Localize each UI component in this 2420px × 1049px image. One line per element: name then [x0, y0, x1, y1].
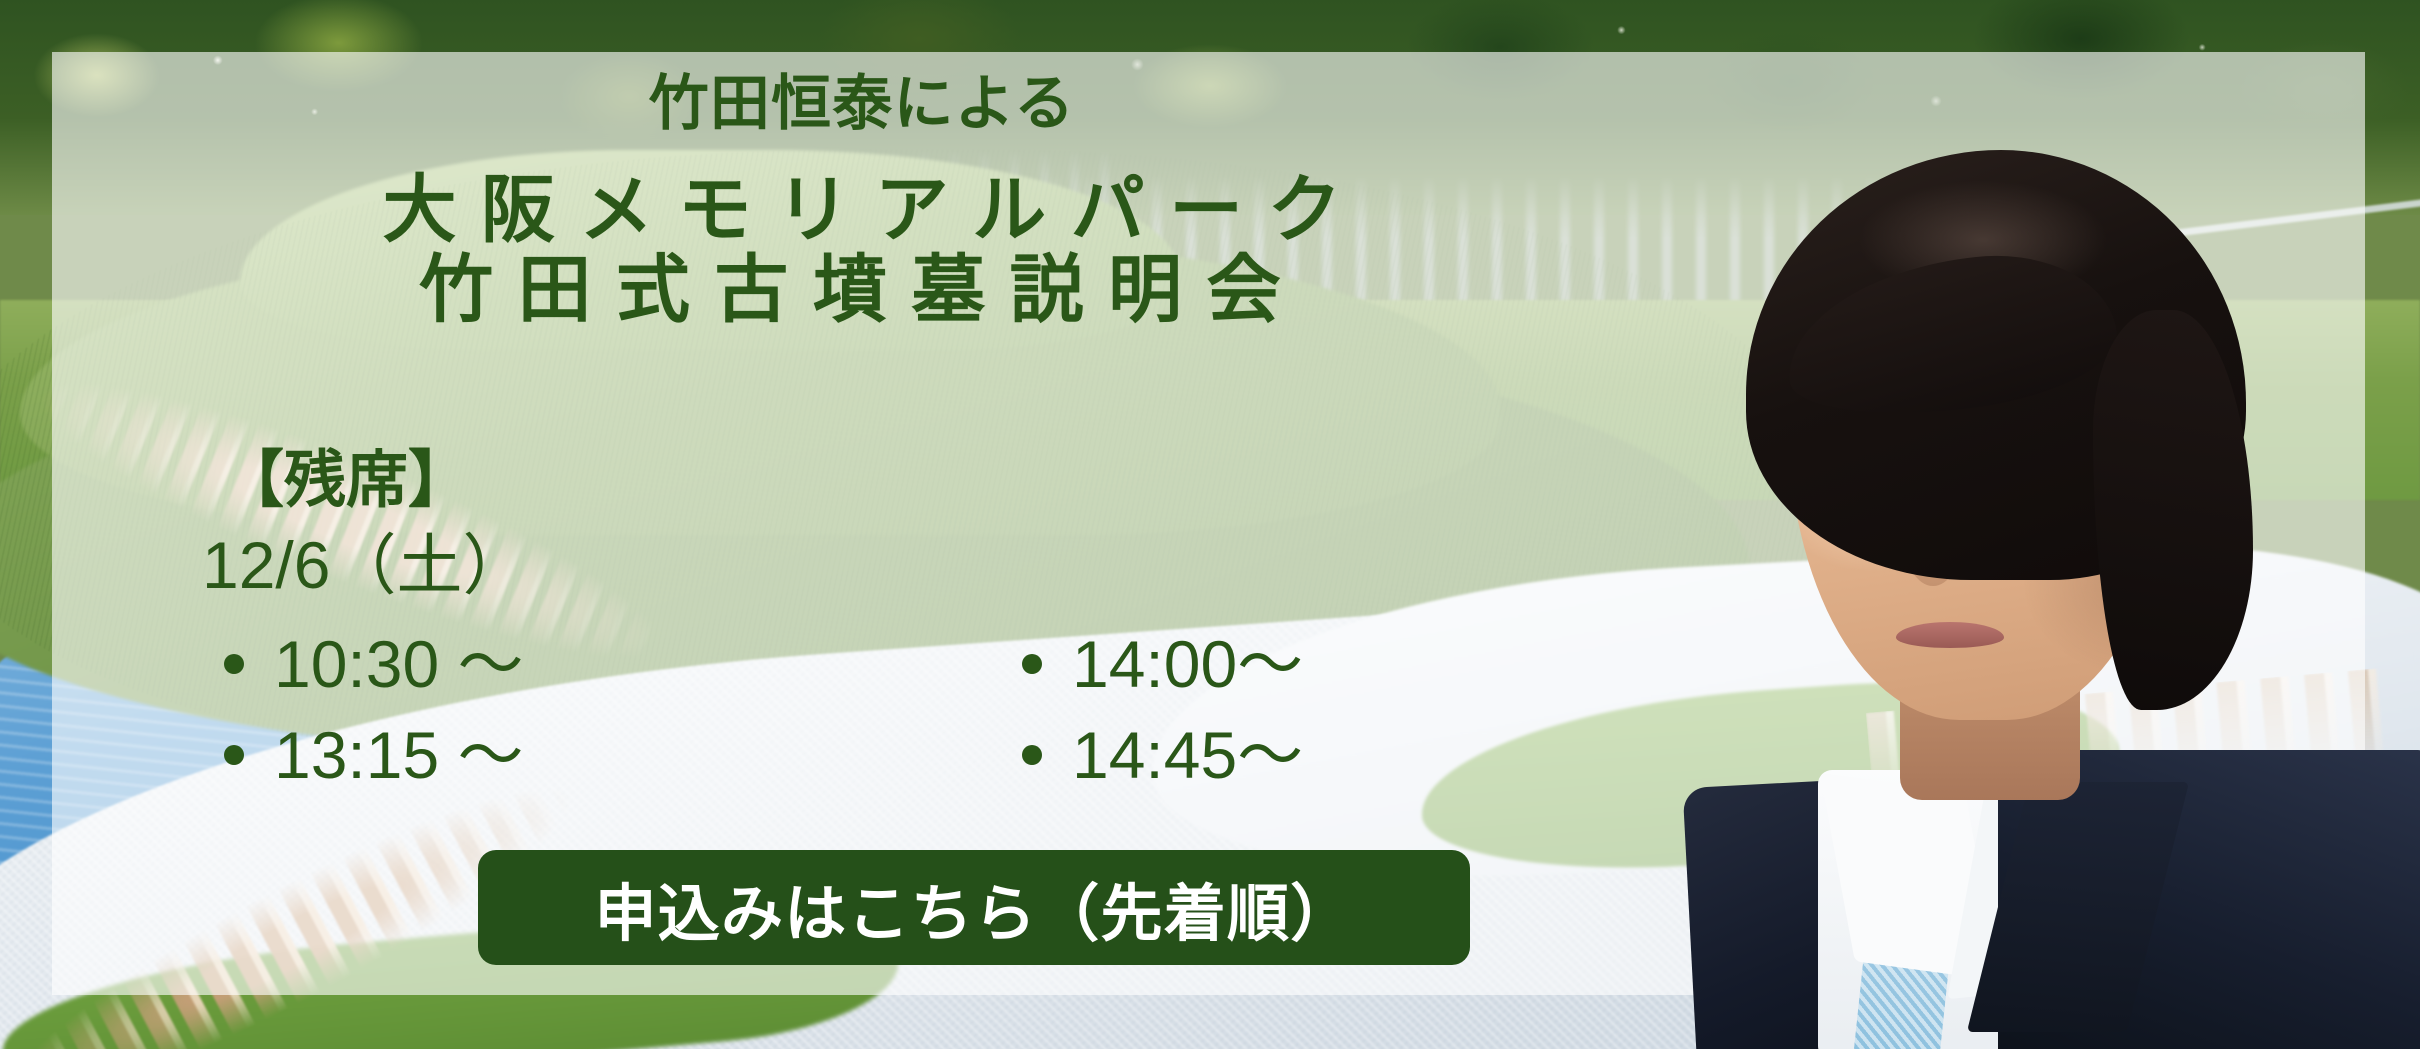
time-slot-label: 10:30 〜: [274, 624, 524, 705]
bullet-icon: [1022, 745, 1042, 765]
time-slot: 14:00〜: [802, 624, 1392, 705]
event-date: 12/6（土）: [202, 532, 528, 598]
time-slot-label: 13:15 〜: [274, 715, 524, 796]
time-slot: 13:15 〜: [212, 715, 802, 796]
time-slot-label: 14:45〜: [1072, 715, 1303, 796]
bullet-icon: [1022, 654, 1042, 674]
banner-copy: 竹田恒泰による 大阪メモリアルパーク 竹田式古墳墓説明会 【残席】 12/6（土…: [52, 52, 1752, 995]
bullet-icon: [224, 745, 244, 765]
apply-button[interactable]: 申込みはこちら（先着順）: [478, 850, 1470, 965]
banner-subtitle: 竹田恒泰による: [52, 74, 1672, 134]
promo-banner: 竹田恒泰による 大阪メモリアルパーク 竹田式古墳墓説明会 【残席】 12/6（土…: [0, 0, 2420, 1049]
remaining-seats-label: 【残席】: [222, 450, 470, 512]
time-slot-label: 14:00〜: [1072, 624, 1303, 705]
time-slot: 10:30 〜: [212, 624, 802, 705]
time-slot-list: 10:30 〜 14:00〜 13:15 〜 14:45〜: [212, 624, 1392, 795]
bullet-icon: [224, 654, 244, 674]
mouth: [1896, 622, 2004, 648]
banner-title: 大阪メモリアルパーク 竹田式古墳墓説明会: [52, 170, 1672, 330]
time-slot: 14:45〜: [802, 715, 1392, 796]
presenter-photo: [1668, 110, 2420, 1049]
